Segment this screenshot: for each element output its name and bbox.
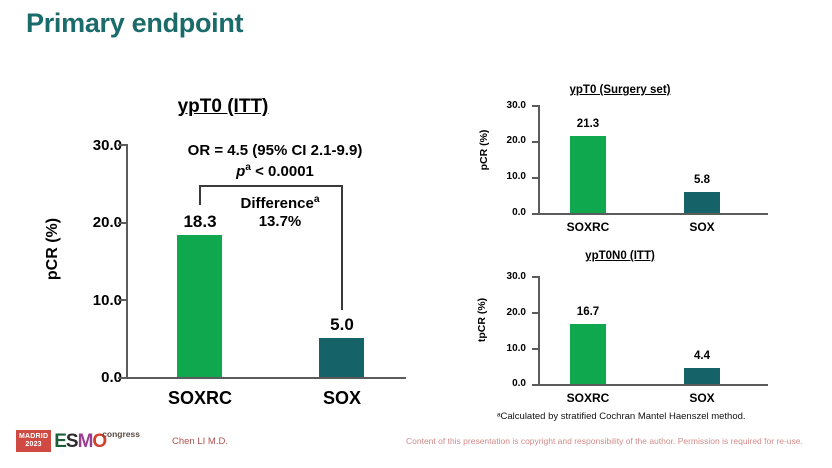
y-tick-label-30: 30.0 xyxy=(62,137,122,154)
y-tick-30 xyxy=(118,144,127,146)
y-tick-tr-30 xyxy=(532,105,539,107)
bar-sox-bottom-right xyxy=(684,368,720,384)
y-tick-label-20: 20.0 xyxy=(62,214,122,231)
y-tick-br-10 xyxy=(532,348,539,350)
x-category-label-sox-top-right: SOX xyxy=(662,220,742,234)
y-axis-label-bottom-right: tpCR (%) xyxy=(476,290,488,350)
y-tick-br-20 xyxy=(532,312,539,314)
y-tick-0 xyxy=(118,377,127,379)
difference-value: 13.7% xyxy=(205,213,355,230)
y-tick-tr-10 xyxy=(532,177,539,179)
chart-ypt0-itt: ypT0 (ITT) pCR (%) 30.0 20.0 10.0 0.0 18… xyxy=(0,0,460,430)
bar-sox-top-right xyxy=(684,192,720,213)
bar-value-sox-top-right: 5.8 xyxy=(667,174,737,186)
x-category-label-sox-bottom-right: SOX xyxy=(662,391,742,405)
y-tick-br-30 xyxy=(532,276,539,278)
chart-ypt0-surgery-set: ypT0 (Surgery set) pCR (%) 30.0 20.0 10.… xyxy=(460,82,832,242)
madrid-2023-badge: MADRID 2023 xyxy=(16,430,51,452)
bar-soxrc-main xyxy=(177,235,222,377)
y-tick-label-0: 0.0 xyxy=(62,369,122,386)
esmo-letter-m: M xyxy=(78,432,93,451)
y-tick-label-tr-30: 30.0 xyxy=(484,100,526,111)
footnote: ᵃCalculated by stratified Cochran Mantel… xyxy=(497,411,746,422)
chart-ypt0n0-itt: ypT0N0 (ITT) tpCR (%) 30.0 20.0 10.0 0.0… xyxy=(460,248,832,413)
y-tick-label-10: 10.0 xyxy=(62,292,122,309)
bar-soxrc-bottom-right xyxy=(570,324,606,384)
x-category-label-sox-main: SOX xyxy=(292,388,392,409)
x-category-label-soxrc-top-right: SOXRC xyxy=(548,220,628,234)
y-axis-main xyxy=(126,144,128,378)
x-axis-main xyxy=(126,377,406,379)
comparison-bracket-left-leg xyxy=(199,185,201,205)
y-axis-bottom-right xyxy=(538,276,540,384)
copyright-notice: Content of this presentation is copyrigh… xyxy=(406,436,803,446)
esmo-wordmark: ESMO congress xyxy=(54,430,106,452)
y-tick-label-tr-20: 20.0 xyxy=(484,135,526,146)
author-credit: Chen LI M.D. xyxy=(172,436,228,447)
bar-sox-main xyxy=(319,338,364,377)
x-axis-bottom-right xyxy=(538,384,768,386)
y-tick-label-br-20: 20.0 xyxy=(484,307,526,318)
chart-title-main: ypT0 (ITT) xyxy=(118,96,328,118)
slide: Primary endpoint ypT0 (ITT) pCR (%) 30.0… xyxy=(0,0,832,468)
y-tick-label-tr-10: 10.0 xyxy=(484,171,526,182)
p-rest: < 0.0001 xyxy=(251,163,314,180)
y-tick-tr-0 xyxy=(532,213,539,215)
chart-title-top-right: ypT0 (Surgery set) xyxy=(510,84,730,96)
difference-superscript: a xyxy=(314,194,320,205)
bar-value-soxrc-top-right: 21.3 xyxy=(553,118,623,130)
madrid-line-2: 2023 xyxy=(19,441,48,450)
y-tick-br-0 xyxy=(532,384,539,386)
y-tick-label-br-10: 10.0 xyxy=(484,343,526,354)
odds-ratio-annotation: OR = 4.5 (95% CI 2.1-9.9) xyxy=(160,142,390,159)
p-value-annotation: pa < 0.0001 xyxy=(160,162,390,180)
p-italic: p xyxy=(236,163,245,180)
esmo-congress-word: congress xyxy=(102,425,140,444)
y-axis-top-right xyxy=(538,105,540,213)
esmo-letter-s: S xyxy=(66,432,78,451)
y-tick-label-tr-0: 0.0 xyxy=(484,207,526,218)
difference-label-text: Difference xyxy=(240,195,313,212)
x-category-label-soxrc-bottom-right: SOXRC xyxy=(548,391,628,405)
x-axis-top-right xyxy=(538,213,768,215)
y-tick-label-br-30: 30.0 xyxy=(484,271,526,282)
esmo-letter-e: E xyxy=(54,432,66,451)
y-tick-label-br-0: 0.0 xyxy=(484,378,526,389)
y-tick-20 xyxy=(118,222,127,224)
comparison-bracket-top xyxy=(199,185,342,187)
chart-title-bottom-right: ypT0N0 (ITT) xyxy=(510,250,730,262)
x-category-label-soxrc-main: SOXRC xyxy=(150,388,250,409)
esmo-congress-logo: MADRID 2023 ESMO congress xyxy=(16,430,106,452)
y-tick-tr-20 xyxy=(532,141,539,143)
bar-soxrc-top-right xyxy=(570,136,606,213)
difference-label: Differencea xyxy=(205,194,355,212)
y-tick-10 xyxy=(118,299,127,301)
bar-value-sox-bottom-right: 4.4 xyxy=(667,350,737,362)
bar-value-soxrc-bottom-right: 16.7 xyxy=(553,306,623,318)
bar-value-sox-main: 5.0 xyxy=(302,315,382,335)
madrid-line-1: MADRID xyxy=(19,433,48,442)
y-axis-label-main: pCR (%) xyxy=(44,204,62,294)
